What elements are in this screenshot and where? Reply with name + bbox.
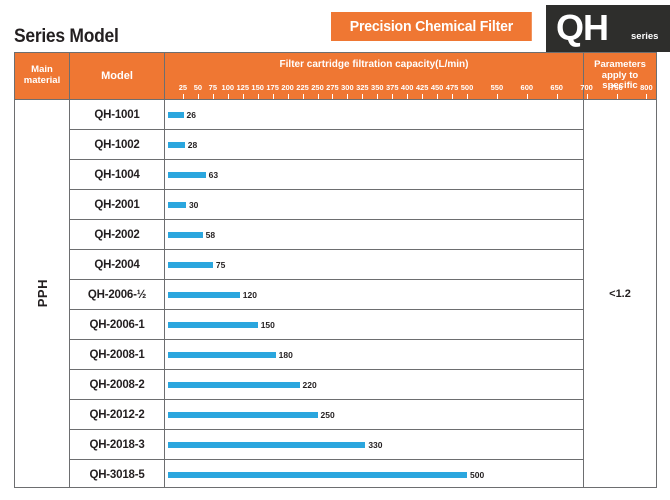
axis-tick-mark (288, 94, 289, 99)
axis-tick-label: 275 (326, 84, 339, 92)
model-cell: QH-1002 (70, 130, 164, 160)
header-main-material: Main material (15, 53, 70, 99)
capacity-bar (168, 172, 206, 178)
bar-value-label: 120 (243, 290, 257, 300)
bar-row: 63 (165, 160, 583, 190)
bar-row: 150 (165, 310, 583, 340)
axis-tick-label: 300 (341, 84, 354, 92)
axis-tick-mark (407, 94, 408, 99)
column-model: QH-1001QH-1002QH-1004QH-2001QH-2002QH-20… (70, 100, 165, 487)
capacity-bar (168, 142, 185, 148)
header-chart: Filter cartridge filtration capacity(L/m… (165, 53, 584, 99)
model-cell: QH-2018-3 (70, 430, 164, 460)
axis-tick-label: 650 (550, 84, 563, 92)
parameter-value: <1.2 (609, 288, 631, 300)
capacity-bar (168, 412, 318, 418)
bar-value-label: 30 (189, 200, 198, 210)
axis-tick-mark (377, 94, 378, 99)
table-header-row: Main material Model Filter cartridge fil… (15, 53, 656, 100)
capacity-bar (168, 442, 365, 448)
specification-table: Main material Model Filter cartridge fil… (14, 52, 657, 488)
bar-row: 75 (165, 250, 583, 280)
model-cell: QH-1001 (70, 100, 164, 130)
bar-row: 220 (165, 370, 583, 400)
axis-tick-mark (587, 94, 588, 99)
header-parameter: Parameters apply to specific (584, 53, 656, 99)
axis-tick-mark (646, 94, 647, 99)
bar-row: 250 (165, 400, 583, 430)
axis-tick-label: 700 (580, 84, 593, 92)
axis-tick-label: 50 (194, 84, 202, 92)
axis-tick-label: 550 (491, 84, 504, 92)
capacity-bar (168, 352, 276, 358)
axis-tick-label: 400 (401, 84, 414, 92)
capacity-bar (168, 112, 184, 118)
column-chart: 262863305875120150180220250330500 (165, 100, 584, 487)
axis-tick-mark (392, 94, 393, 99)
chart-title: Filter cartridge filtration capacity(L/m… (165, 59, 583, 70)
axis-tick-mark (303, 94, 304, 99)
axis-tick-mark (422, 94, 423, 99)
bar-row: 58 (165, 220, 583, 250)
capacity-bar (168, 382, 300, 388)
axis-tick-mark (527, 94, 528, 99)
main-material-value: PPH (35, 279, 50, 307)
axis-tick-label: 175 (266, 84, 279, 92)
chart-x-axis: 2550751001251501752002252502753003253503… (165, 77, 583, 99)
axis-tick-label: 800 (640, 84, 653, 92)
bar-row: 180 (165, 340, 583, 370)
bar-value-label: 28 (188, 140, 197, 150)
model-cell: QH-2004 (70, 250, 164, 280)
axis-tick-label: 475 (446, 84, 459, 92)
bar-row: 26 (165, 100, 583, 130)
logo-mark-text: QH (556, 6, 608, 50)
axis-tick-mark (198, 94, 199, 99)
axis-tick-mark (452, 94, 453, 99)
axis-tick-mark (557, 94, 558, 99)
logo-series-text: series (631, 31, 658, 42)
model-cell: QH-2012-2 (70, 400, 164, 430)
axis-tick-mark (332, 94, 333, 99)
axis-tick-label: 350 (371, 84, 384, 92)
column-parameter: <1.2 (584, 100, 656, 487)
bar-row: 500 (165, 460, 583, 490)
axis-tick-mark (362, 94, 363, 99)
qh-logo: QH series (546, 5, 670, 52)
axis-tick-mark (258, 94, 259, 99)
axis-tick-mark (347, 94, 348, 99)
axis-tick-label: 375 (386, 84, 399, 92)
bar-value-label: 26 (187, 110, 196, 120)
capacity-bar (168, 202, 186, 208)
bar-value-label: 250 (321, 410, 335, 420)
bar-value-label: 58 (206, 230, 215, 240)
axis-tick-mark (243, 94, 244, 99)
table-body: PPH QH-1001QH-1002QH-1004QH-2001QH-2002Q… (15, 100, 656, 487)
axis-tick-label: 600 (521, 84, 534, 92)
axis-tick-mark (228, 94, 229, 99)
capacity-bar (168, 262, 213, 268)
model-cell: QH-2008-2 (70, 370, 164, 400)
axis-tick-label: 75 (209, 84, 217, 92)
axis-tick-mark (273, 94, 274, 99)
model-cell: QH-2006-1 (70, 310, 164, 340)
axis-tick-label: 100 (222, 84, 235, 92)
bar-value-label: 220 (303, 380, 317, 390)
bar-value-label: 180 (279, 350, 293, 360)
bar-value-label: 150 (261, 320, 275, 330)
bar-row: 120 (165, 280, 583, 310)
axis-tick-mark (617, 94, 618, 99)
capacity-bar (168, 292, 240, 298)
capacity-bar (168, 232, 203, 238)
page-title: Series Model (14, 26, 119, 48)
axis-tick-label: 25 (179, 84, 187, 92)
axis-tick-label: 125 (236, 84, 249, 92)
capacity-bar (168, 472, 467, 478)
column-main-material: PPH (15, 100, 70, 487)
model-cell: QH-3018-5 (70, 460, 164, 490)
axis-tick-label: 200 (281, 84, 294, 92)
axis-tick-label: 250 (311, 84, 324, 92)
axis-tick-label: 425 (416, 84, 429, 92)
axis-tick-label: 750 (610, 84, 623, 92)
bar-row: 30 (165, 190, 583, 220)
axis-tick-label: 325 (356, 84, 369, 92)
axis-tick-mark (183, 94, 184, 99)
axis-tick-mark (497, 94, 498, 99)
axis-tick-label: 500 (461, 84, 474, 92)
model-cell: QH-2008-1 (70, 340, 164, 370)
bar-value-label: 500 (470, 470, 484, 480)
bar-row: 330 (165, 430, 583, 460)
capacity-bar (168, 322, 258, 328)
axis-tick-mark (467, 94, 468, 99)
bar-value-label: 75 (216, 260, 225, 270)
axis-tick-label: 225 (296, 84, 309, 92)
axis-tick-label: 150 (251, 84, 264, 92)
bar-row: 28 (165, 130, 583, 160)
model-cell: QH-1004 (70, 160, 164, 190)
axis-tick-mark (318, 94, 319, 99)
page-banner: Series Model Precision Chemical Filter Q… (0, 0, 670, 52)
axis-tick-label: 450 (431, 84, 444, 92)
axis-tick-mark (437, 94, 438, 99)
header-model: Model (70, 53, 165, 99)
bar-value-label: 330 (368, 440, 382, 450)
axis-tick-mark (213, 94, 214, 99)
bar-value-label: 63 (209, 170, 218, 180)
model-cell: QH-2002 (70, 220, 164, 250)
model-cell: QH-2006-½ (70, 280, 164, 310)
tagline-badge: Precision Chemical Filter (331, 12, 532, 41)
model-cell: QH-2001 (70, 190, 164, 220)
